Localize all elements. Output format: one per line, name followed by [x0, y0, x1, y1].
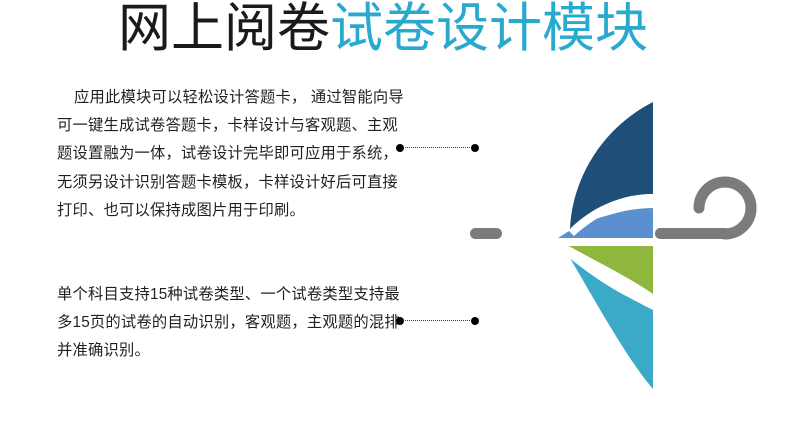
umbrella-illustration — [470, 98, 760, 393]
canopy-gap-blue-green — [562, 239, 653, 246]
page-title: 网上阅卷试卷设计模块 — [118, 0, 648, 60]
body-paragraph-1-text: 应用此模块可以轻松设计答题卡， 通过智能向导可一键生成试卷答题卡，卡样设计与客观… — [57, 89, 404, 219]
page-title-accent: 试卷设计模块 — [330, 0, 648, 58]
umbrella-shaft-rod — [655, 228, 730, 239]
connector-dashes — [403, 320, 472, 321]
page-title-primary: 网上阅卷 — [118, 0, 330, 58]
body-paragraph-2: 单个科目支持15种试卷类型、一个试卷类型支持最多15页的试卷的自动识别，客观题，… — [57, 281, 409, 366]
connector-line-top — [396, 143, 479, 152]
umbrella-handle-hook — [699, 182, 751, 234]
slide-canvas: 网上阅卷试卷设计模块 应用此模块可以轻松设计答题卡， 通过智能向导可一键生成试卷… — [0, 0, 800, 447]
umbrella-shaft-stub — [470, 228, 502, 239]
connector-line-bottom — [396, 316, 479, 325]
body-paragraph-2-text: 单个科目支持15种试卷类型、一个试卷类型支持最多15页的试卷的自动识别，客观题，… — [57, 286, 400, 359]
body-paragraph-1: 应用此模块可以轻松设计答题卡， 通过智能向导可一键生成试卷答题卡，卡样设计与客观… — [57, 84, 409, 225]
connector-dashes — [403, 147, 472, 148]
